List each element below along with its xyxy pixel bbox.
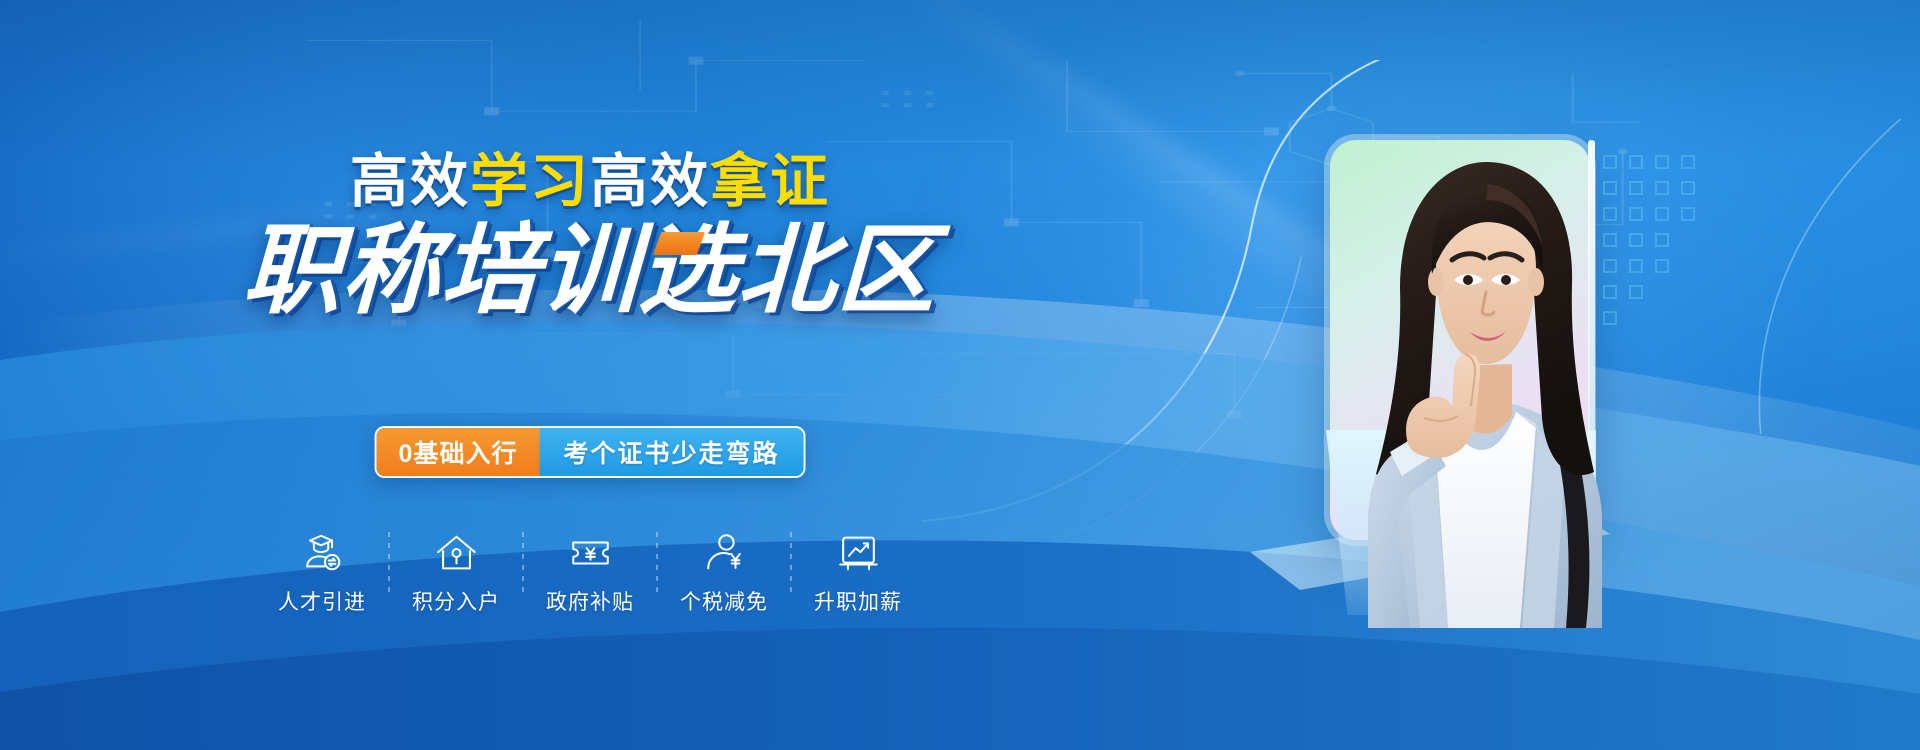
headline-orange-accent: [653, 232, 705, 255]
promo-banner: 高效学习高效拿证 职称培训选北区 0基础入行 考个证书少走弯路: [0, 0, 1920, 750]
subhead-part-1: 高效: [350, 152, 470, 210]
feature-label: 政府补贴: [546, 586, 634, 616]
feature-item[interactable]: 人才引进: [256, 530, 389, 616]
feature-item[interactable]: 升职加薪: [792, 530, 925, 616]
feature-list: 人才引进 积分入户: [256, 530, 925, 616]
sub-headline: 高效学习高效拿证: [0, 152, 1180, 210]
badge-right-label: 考个证书少走弯路: [539, 428, 803, 476]
feature-label: 升职加薪: [814, 586, 902, 616]
graduate-exchange-icon: [299, 530, 345, 576]
banner-copy: 高效学习高效拿证 职称培训选北区 0基础入行 考个证书少走弯路: [0, 0, 1180, 750]
main-headline: 职称培训选北区: [0, 222, 1180, 320]
feature-item[interactable]: 个税减免: [658, 530, 791, 616]
person-yuan-icon: [701, 530, 747, 576]
feature-item[interactable]: 积分入户: [390, 530, 523, 616]
feature-label: 人才引进: [278, 586, 366, 616]
subhead-part-3: 高效: [590, 152, 710, 210]
chart-growth-icon: [835, 530, 881, 576]
badge-left-label: 0基础入行: [377, 428, 540, 476]
subhead-part-4: 拿证: [710, 152, 830, 210]
presenter-photo: [1250, 88, 1670, 628]
house-pin-icon: [433, 530, 479, 576]
ticket-yuan-icon: [567, 530, 613, 576]
subhead-part-2: 学习: [470, 152, 590, 210]
feature-label: 积分入户: [412, 586, 500, 616]
feature-label: 个税减免: [680, 586, 768, 616]
tagline-badge[interactable]: 0基础入行 考个证书少走弯路: [375, 426, 806, 478]
feature-item[interactable]: 政府补贴: [524, 530, 657, 616]
main-headline-text: 职称培训选北区: [242, 222, 938, 320]
